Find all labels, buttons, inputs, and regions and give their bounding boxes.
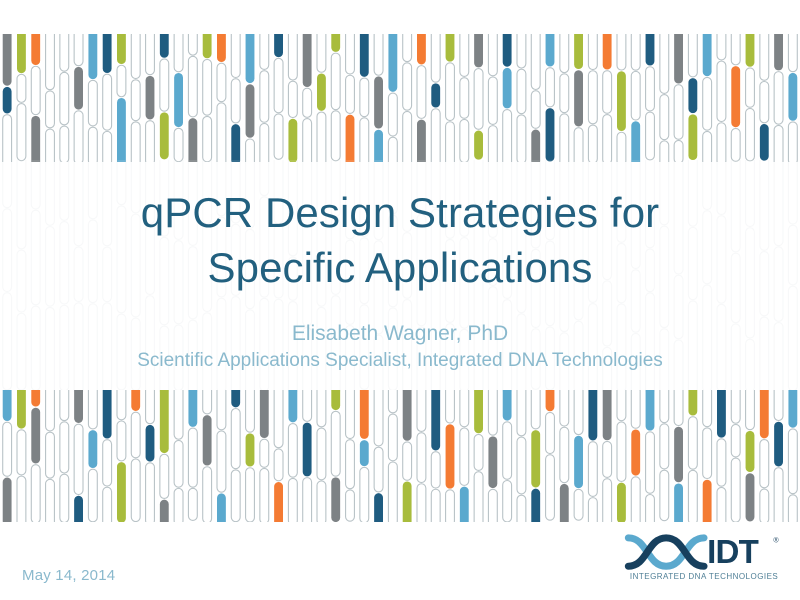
idt-tagline: INTEGRATED DNA TECHNOLOGIES	[630, 572, 778, 581]
idt-logo: IDT ® INTEGRATED DNA TECHNOLOGIES	[624, 530, 784, 582]
svg-text:®: ®	[773, 537, 779, 545]
title-block: qPCR Design Strategies for Specific Appl…	[0, 186, 800, 374]
presentation-slide: qPCR Design Strategies for Specific Appl…	[0, 0, 800, 600]
chromosome-band-top	[0, 34, 800, 162]
presenter-role: Scientific Applications Specialist, Inte…	[0, 349, 800, 374]
dna-helix-mark	[628, 538, 704, 566]
slide-title: qPCR Design Strategies for Specific Appl…	[0, 186, 800, 295]
chromosome-band-bottom	[0, 390, 800, 522]
idt-wordmark: IDT ®	[707, 534, 779, 571]
presenter-name: Elisabeth Wagner, PhD	[0, 321, 800, 347]
svg-text:IDT: IDT	[707, 534, 759, 571]
slide-date: May 14, 2014	[22, 567, 115, 584]
